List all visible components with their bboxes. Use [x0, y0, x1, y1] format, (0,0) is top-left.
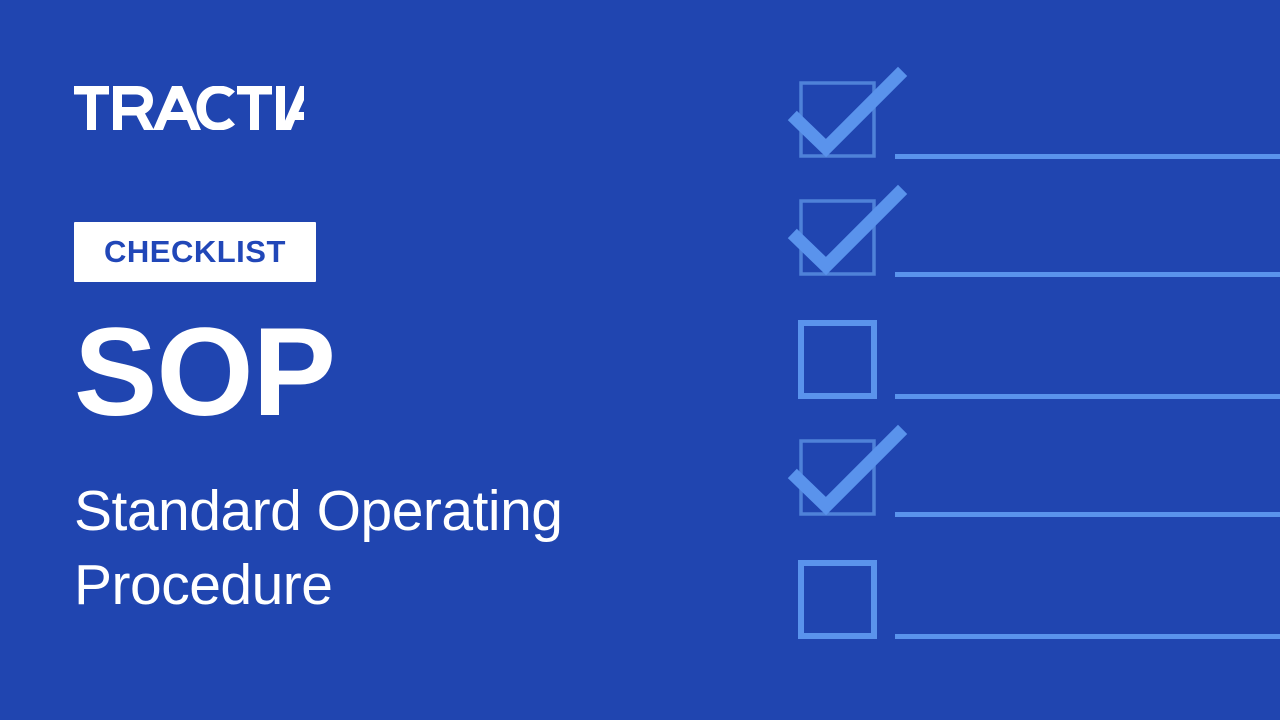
checklist-badge: CHECKLIST	[74, 222, 316, 282]
checklist-item-5[interactable]	[796, 558, 1280, 678]
tractian-wordmark-logo	[74, 86, 304, 130]
checklist-item-3[interactable]	[796, 318, 1280, 438]
checklist-item-2[interactable]	[796, 196, 1280, 316]
checklist-item-1-line	[895, 154, 1280, 159]
left-content-column: CHECKLIST SOP Standard Operating Procedu…	[74, 0, 714, 720]
page-subtitle: Standard Operating Procedure	[74, 474, 674, 622]
checklist-graphic	[796, 0, 1280, 720]
checkbox-empty-icon[interactable]	[796, 558, 906, 658]
checkbox-checked-icon[interactable]	[796, 436, 906, 536]
checkbox-checked-icon[interactable]	[796, 78, 906, 178]
page-subtitle-line-2: Procedure	[74, 548, 674, 622]
checklist-item-5-line	[895, 634, 1280, 639]
checkbox-checked-icon[interactable]	[796, 196, 906, 296]
checklist-item-3-line	[895, 394, 1280, 399]
page-subtitle-line-1: Standard Operating	[74, 474, 674, 548]
page-title: SOP	[74, 310, 335, 435]
checklist-item-1[interactable]	[796, 78, 1280, 198]
checklist-badge-label: CHECKLIST	[104, 236, 286, 267]
slide-canvas: CHECKLIST SOP Standard Operating Procedu…	[0, 0, 1280, 720]
checkbox-empty-icon[interactable]	[796, 318, 906, 418]
checklist-item-2-line	[895, 272, 1280, 277]
checklist-item-4-line	[895, 512, 1280, 517]
checklist-item-4[interactable]	[796, 436, 1280, 556]
